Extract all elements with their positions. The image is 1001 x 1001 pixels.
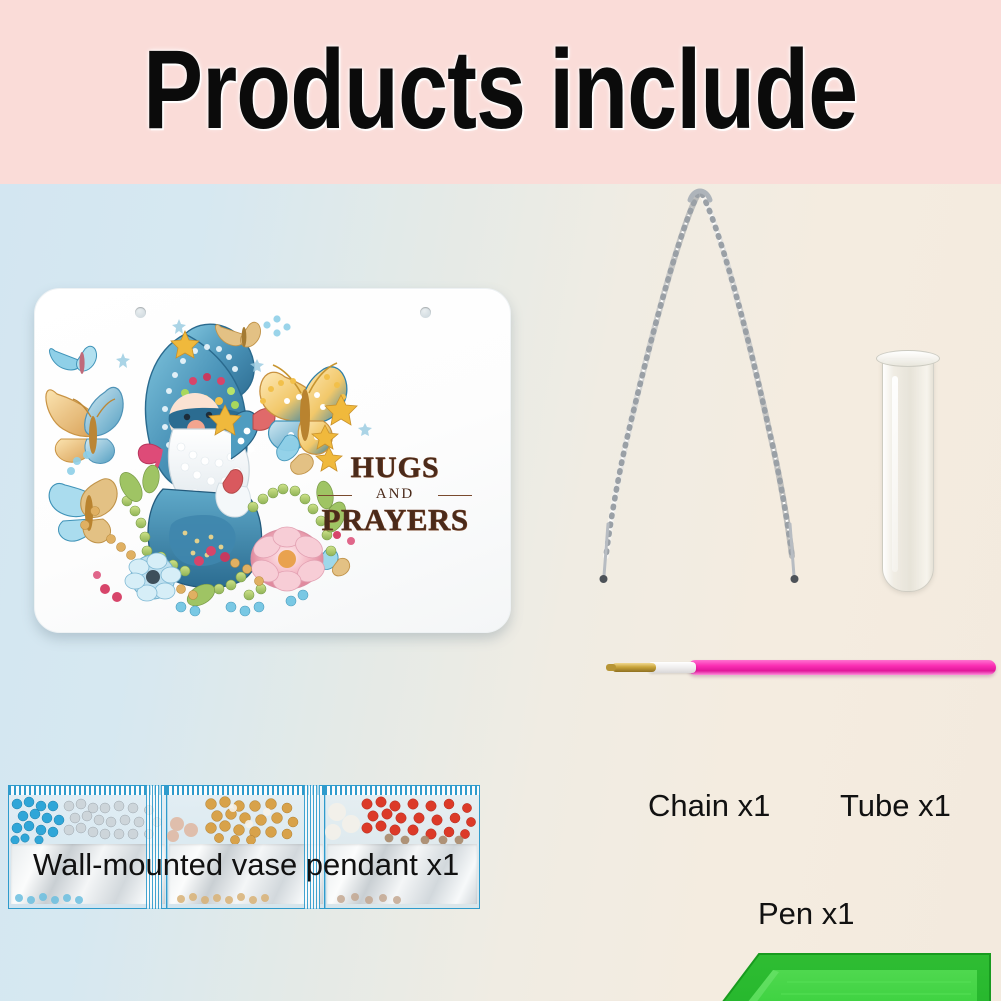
tube-highlight — [892, 376, 898, 572]
tube-rim — [876, 350, 940, 367]
page-title: Products include — [143, 34, 857, 146]
quote-line-3: PRAYERS — [320, 504, 470, 535]
pen-product — [606, 656, 996, 686]
artwork-quote: HUGS AND PRAYERS — [320, 453, 470, 535]
chain-product — [590, 184, 810, 604]
gem-fill-red — [325, 794, 479, 846]
pen-tip — [612, 663, 656, 672]
tray-product — [699, 950, 994, 1001]
plaque-panel: HUGS AND PRAYERS — [34, 288, 511, 633]
pouch-bottom-gems — [9, 890, 167, 906]
tube-body — [882, 358, 934, 592]
product-include-infographic: Products include — [0, 0, 1001, 1001]
header-banner: Products include — [0, 0, 1001, 184]
wall-mounted-vase-pendant: HUGS AND PRAYERS — [28, 284, 518, 636]
pen-tip-end — [606, 664, 616, 671]
label-tube: Tube x1 — [840, 788, 951, 824]
label-chain: Chain x1 — [648, 788, 770, 824]
pouch-bottom-gems — [167, 890, 325, 906]
products-stage: HUGS AND PRAYERS — [0, 184, 1001, 1001]
quote-line-2: AND — [320, 487, 470, 502]
tube-product — [876, 342, 938, 594]
label-wall-mounted-vase-pendant: Wall-mounted vase pendant x1 — [33, 847, 459, 883]
pen-barrel — [688, 660, 996, 675]
gem-fill-gold — [167, 794, 325, 846]
pouch-bottom-gems — [325, 890, 479, 906]
quote-line-1: HUGS — [320, 453, 470, 483]
label-pen: Pen x1 — [758, 896, 855, 932]
gem-fill-blue — [9, 794, 167, 846]
